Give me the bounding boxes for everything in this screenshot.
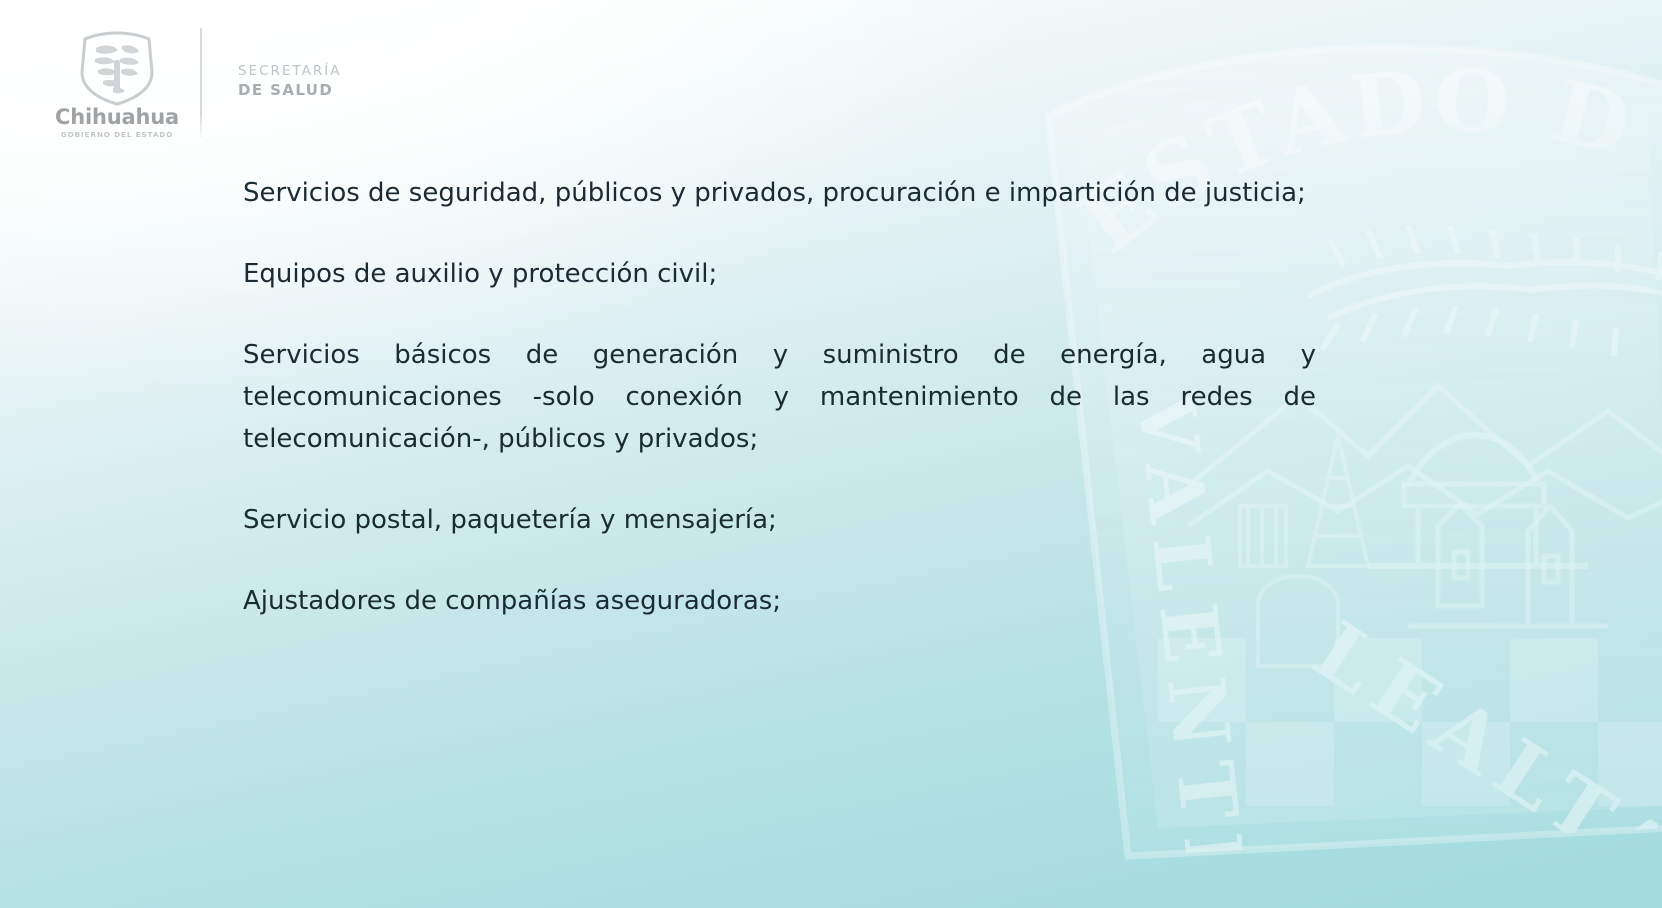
brand-header: Chihuahua GOBIERNO DEL ESTADO SECRETARÍA… <box>58 26 341 138</box>
content-paragraph: Ajustadores de compañías aseguradoras; <box>243 580 1316 622</box>
svg-text:LEALTAD: LEALTAD <box>1298 603 1662 866</box>
content-paragraph: Equipos de auxilio y protección civil; <box>243 253 1316 295</box>
content-paragraph: Servicio postal, paquetería y mensajería… <box>243 499 1316 541</box>
slide-body-content: Servicios de seguridad, públicos y priva… <box>243 172 1316 622</box>
department-line1: SECRETARÍA <box>238 64 341 80</box>
department-line2: DE SALUD <box>238 82 341 99</box>
header-divider <box>200 28 202 138</box>
presentation-slide: ESTADO D CHIHU VALENTIA <box>0 0 1662 908</box>
department-lockup: SECRETARÍA DE SALUD <box>238 64 341 99</box>
chihuahua-state-crest-icon <box>80 26 154 106</box>
government-brand-lockup: Chihuahua GOBIERNO DEL ESTADO <box>58 26 176 138</box>
brand-name: Chihuahua <box>55 107 179 128</box>
content-paragraph: Servicios de seguridad, públicos y priva… <box>243 172 1316 214</box>
brand-subtitle: GOBIERNO DEL ESTADO <box>61 131 173 138</box>
content-paragraph: Servicios básicos de generación y sumini… <box>243 334 1316 460</box>
